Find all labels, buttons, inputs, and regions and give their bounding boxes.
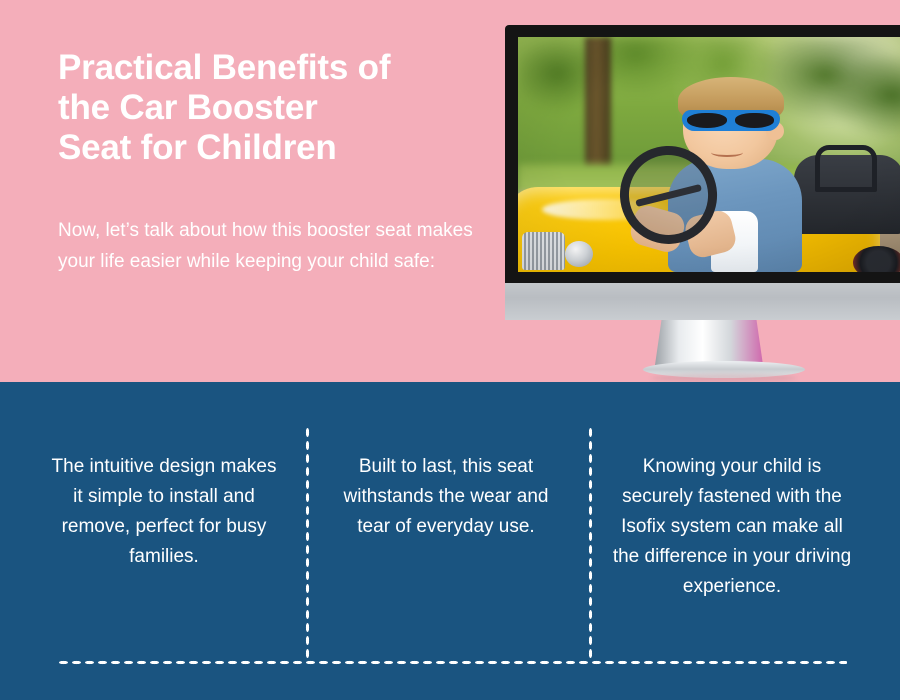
hero-subcopy: Now, let’s talk about how this booster s…: [58, 215, 473, 277]
photo-vignette: [518, 37, 900, 272]
benefit-text: Knowing your child is securely fastened …: [612, 452, 852, 602]
boy-in-toy-car-photo: [518, 37, 900, 272]
hero-section: Practical Benefits of the Car Booster Se…: [0, 0, 900, 382]
monitor-chin: [505, 283, 900, 320]
benefits-section: The intuitive design makes it simple to …: [0, 382, 900, 700]
benefit-column-durability: Built to last, this seat withstands the …: [330, 452, 562, 542]
benefits-columns: The intuitive design makes it simple to …: [0, 382, 900, 652]
benefit-text: The intuitive design makes it simple to …: [48, 452, 280, 572]
benefit-column-isofix-safety: Knowing your child is securely fastened …: [612, 452, 852, 602]
vertical-dotted-divider-1: [305, 426, 310, 658]
monitor-screen: [518, 37, 900, 272]
monitor-base-shadow: [651, 374, 797, 382]
page-title: Practical Benefits of the Car Booster Se…: [58, 48, 478, 168]
monitor-bezel: [505, 25, 900, 283]
monitor-stand-neck: [655, 320, 763, 365]
vertical-dotted-divider-2: [588, 426, 593, 658]
benefit-text: Built to last, this seat withstands the …: [330, 452, 562, 542]
infographic-page: Practical Benefits of the Car Booster Se…: [0, 0, 900, 700]
benefit-column-easy-installation: The intuitive design makes it simple to …: [48, 452, 280, 572]
horizontal-dotted-divider: [57, 660, 847, 665]
